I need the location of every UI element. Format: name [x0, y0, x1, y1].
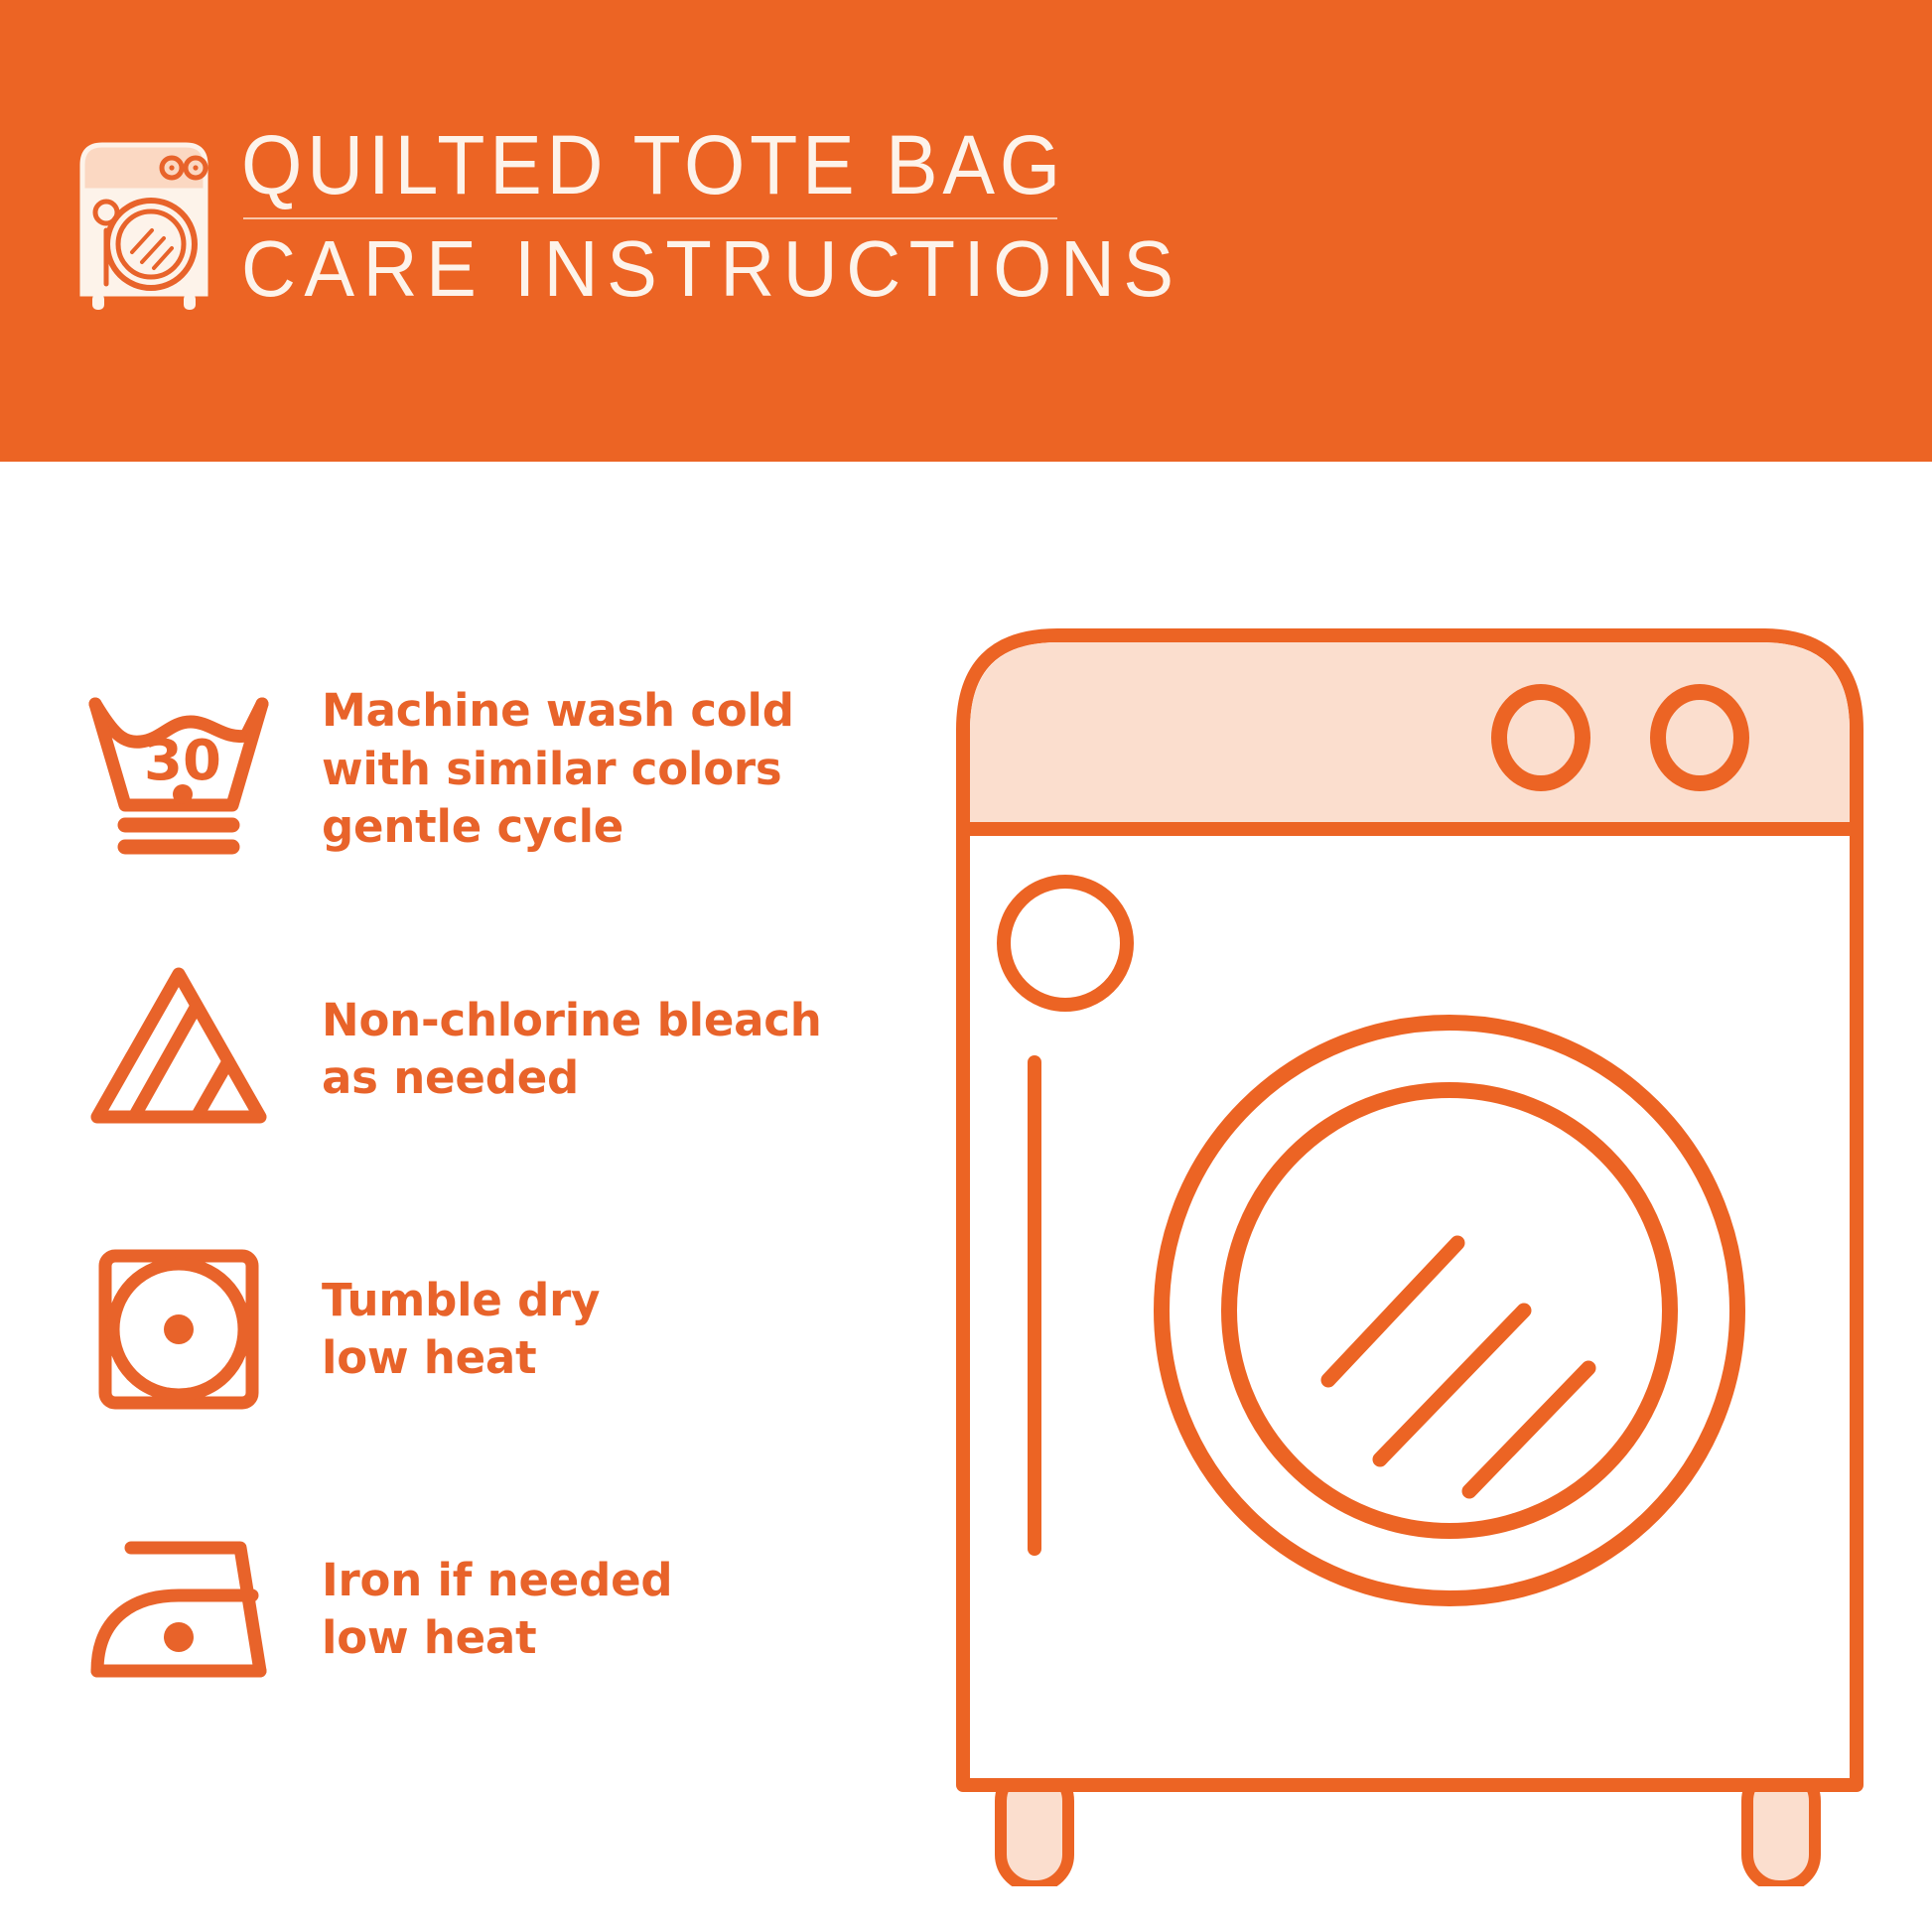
wash-temperature-label: 30 — [144, 729, 221, 793]
care-line: Machine wash cold — [322, 682, 794, 741]
care-row-bleach: Non-chlorine bleach as needed — [79, 935, 854, 1164]
header-band: QUILTED TOTE BAG CARE INSTRUCTIONS — [0, 0, 1932, 462]
care-line: with similar colors — [322, 741, 794, 799]
care-instruction-list: 30 Machine wash cold with similar colors… — [79, 655, 854, 1775]
header-content: QUILTED TOTE BAG CARE INSTRUCTIONS — [74, 127, 1232, 314]
machine-wash-30-gentle-icon: 30 — [79, 675, 278, 864]
care-line: low heat — [322, 1329, 600, 1388]
care-text-iron: Iron if needed low heat — [322, 1552, 672, 1668]
iron-low-heat-icon — [79, 1515, 278, 1704]
care-line: Iron if needed — [322, 1552, 672, 1610]
tumble-dry-low-heat-icon — [79, 1235, 278, 1424]
care-row-machine-wash: 30 Machine wash cold with similar colors… — [79, 655, 854, 884]
care-line: gentle cycle — [322, 798, 794, 857]
care-instructions-page: QUILTED TOTE BAG CARE INSTRUCTIONS — [0, 0, 1932, 1932]
washing-machine-illustration — [953, 625, 1866, 1886]
care-row-tumble-dry: Tumble dry low heat — [79, 1215, 854, 1444]
page-title: QUILTED TOTE BAG — [241, 127, 1173, 204]
washer-knob-right — [1658, 692, 1741, 783]
title-divider — [243, 217, 1057, 219]
care-line: Non-chlorine bleach — [322, 992, 822, 1050]
care-line: as needed — [322, 1049, 822, 1108]
non-chlorine-bleach-triangle-icon — [79, 955, 278, 1144]
washer-knob-left — [1499, 692, 1583, 783]
washing-machine-icon — [74, 135, 213, 314]
care-text-bleach: Non-chlorine bleach as needed — [322, 992, 822, 1108]
care-line: Tumble dry — [322, 1272, 600, 1330]
care-text-machine-wash: Machine wash cold with similar colors ge… — [322, 682, 794, 857]
header-titles: QUILTED TOTE BAG CARE INSTRUCTIONS — [241, 127, 1232, 307]
care-text-tumble-dry: Tumble dry low heat — [322, 1272, 600, 1388]
page-subtitle: CARE INSTRUCTIONS — [241, 231, 1182, 307]
care-line: low heat — [322, 1609, 672, 1668]
care-row-iron: Iron if needed low heat — [79, 1495, 854, 1724]
